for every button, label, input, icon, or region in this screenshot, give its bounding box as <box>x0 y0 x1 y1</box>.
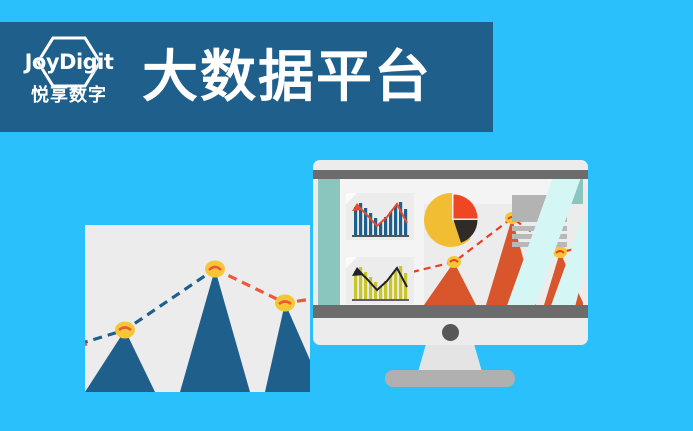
report-block <box>512 195 567 222</box>
logo-wordmark: JoyDigit <box>25 52 114 73</box>
trend-line-dashed-blue <box>85 269 215 344</box>
report-placeholder <box>512 195 567 243</box>
trend-line-dashed-red <box>215 269 310 303</box>
monitor-camera-dot <box>442 324 459 341</box>
monitor <box>313 160 588 345</box>
monitor-bottom-bar <box>313 305 588 318</box>
page-corner-fold-icon <box>346 257 357 268</box>
report-line <box>512 226 567 231</box>
logo-subtitle: 悦享数字 <box>31 86 107 104</box>
monitor-stand-neck <box>418 345 482 372</box>
pie-chart <box>423 191 481 249</box>
monitor-top-bar <box>313 170 588 179</box>
report-line <box>512 242 567 247</box>
page-title: 大数据平台 <box>142 49 432 105</box>
brand-logo: JoyDigit 悦享数字 <box>14 34 124 120</box>
screen-left-strip <box>318 179 340 305</box>
monitor-screen <box>318 179 583 305</box>
header-banner: JoyDigit 悦享数字 大数据平台 <box>0 22 493 132</box>
pie-slice-b <box>454 195 478 219</box>
cursor-arrow-icon <box>352 267 364 276</box>
mountain-chart-panel <box>85 225 310 392</box>
mini-chart-card-yellow <box>346 257 414 304</box>
poster-canvas: JoyDigit 悦享数字 大数据平台 <box>0 0 693 431</box>
mountain-area-chart <box>85 225 310 392</box>
monitor-stand-base <box>385 370 515 387</box>
report-line <box>512 234 567 239</box>
mini-chart-card-blue <box>346 193 414 240</box>
page-corner-fold-icon <box>346 193 357 204</box>
trend-line-red-stub <box>85 344 87 345</box>
